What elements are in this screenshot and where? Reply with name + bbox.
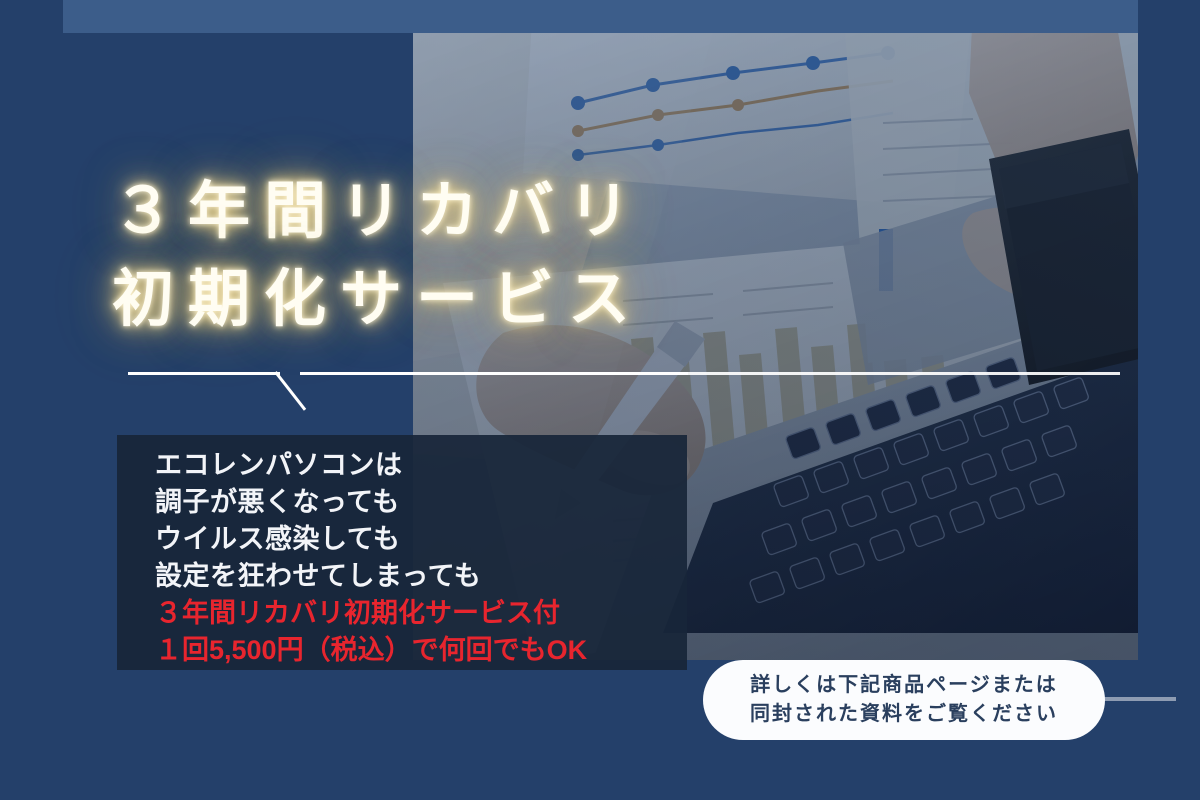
- copy-panel: エコレンパソコンは 調子が悪くなっても ウイルス感染しても 設定を狂わせてしまっ…: [117, 435, 687, 670]
- copy-line: 設定を狂わせてしまっても: [155, 558, 687, 595]
- top-accent-band: [63, 0, 1138, 33]
- copy-line-highlight: ３年間リカバリ初期化サービス付: [155, 595, 687, 632]
- rule-segment-extension: [688, 372, 1120, 375]
- copy-line-price: １回5,500円（税込）で何回でもOK: [155, 632, 687, 669]
- headline-line-2: 初期化サービス: [112, 256, 872, 344]
- decorative-rule: [128, 362, 688, 420]
- headline: ３年間リカバリ 初期化サービス: [112, 168, 872, 344]
- copy-line: ウイルス感染しても: [155, 521, 687, 558]
- copy-line: 調子が悪くなっても: [155, 484, 687, 521]
- rule-diagonal-stroke: [274, 371, 306, 411]
- rule-segment-right: [300, 372, 688, 375]
- reference-callout-pill[interactable]: 詳しくは下記商品ページまたは 同封された資料をご覧ください: [703, 660, 1105, 740]
- pill-connector-line: [1098, 697, 1176, 701]
- copy-line: エコレンパソコンは: [155, 447, 687, 484]
- rule-segment-left: [128, 372, 280, 375]
- banner-canvas: ３年間リカバリ 初期化サービス エコレンパソコンは 調子が悪くなっても ウイルス…: [0, 0, 1200, 800]
- headline-line-1: ３年間リカバリ: [112, 168, 872, 256]
- pill-line-2: 同封された資料をご覧ください: [750, 700, 1058, 729]
- pill-line-1: 詳しくは下記商品ページまたは: [750, 671, 1058, 700]
